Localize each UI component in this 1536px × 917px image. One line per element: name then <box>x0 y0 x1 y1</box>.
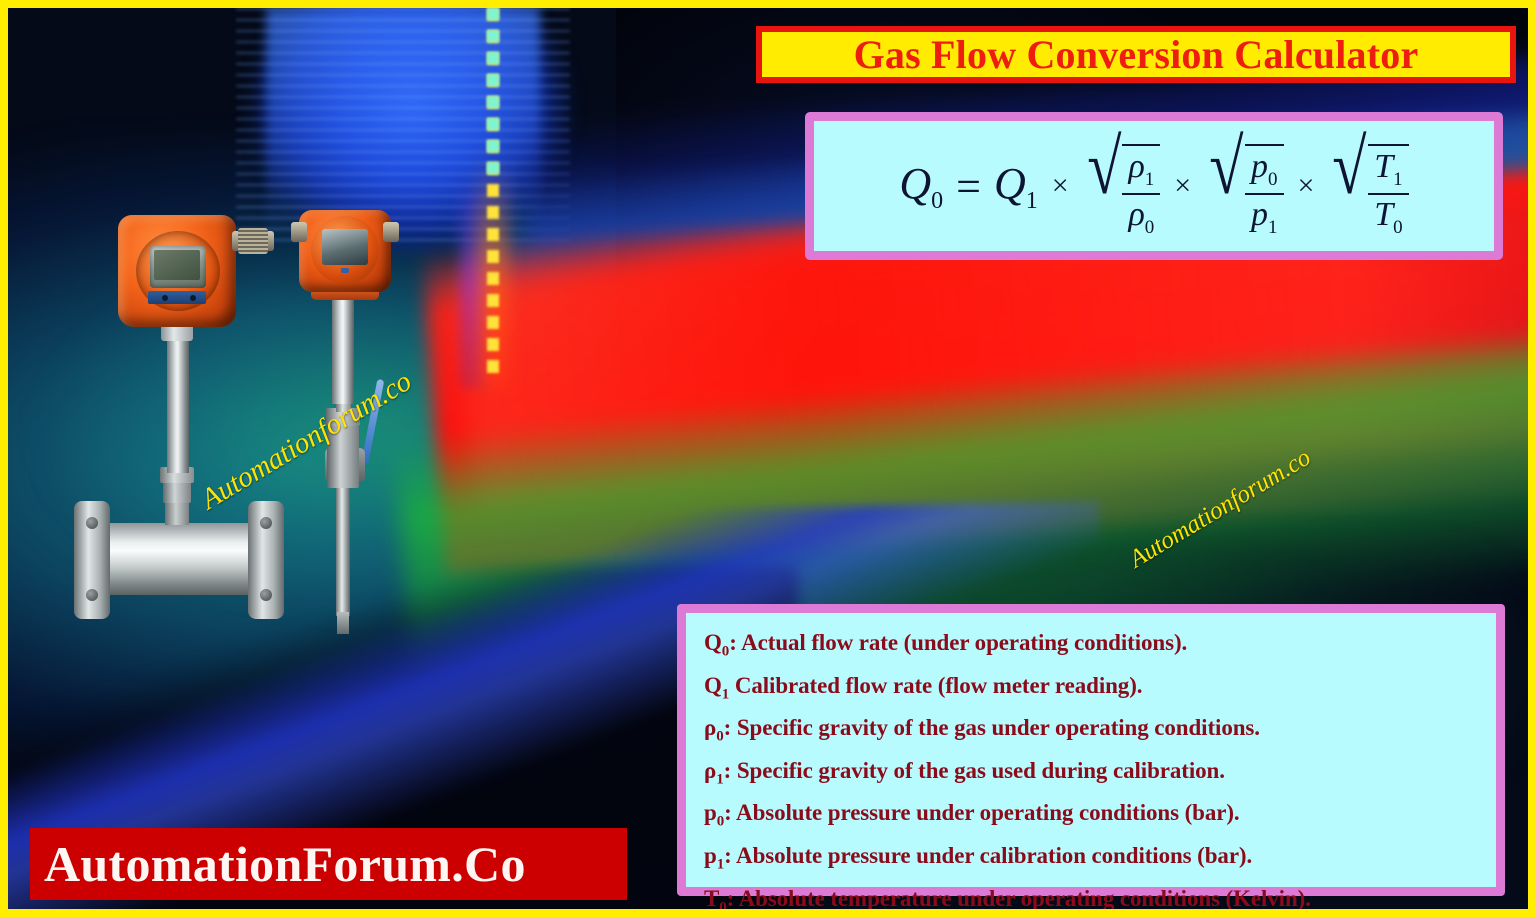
poster-canvas: Automationforum.co Automationforum.co Ga… <box>0 0 1536 917</box>
formula-equals: = <box>956 161 981 212</box>
lcd-display-area <box>154 250 200 280</box>
pressure-ratio: p0 p1 <box>1245 144 1284 238</box>
formula-q1: Q1 <box>994 158 1038 215</box>
site-name: AutomationForum.Co <box>44 835 526 893</box>
density-numerator: ρ1 <box>1122 148 1160 192</box>
cable-gland-right <box>383 222 399 242</box>
title-banner: Gas Flow Conversion Calculator <box>756 26 1516 83</box>
formula-times-3: × <box>1297 169 1316 203</box>
formula-times-1: × <box>1051 169 1070 203</box>
inline-flanged-gas-flow-meter <box>70 213 285 623</box>
density-ratio: ρ1 ρ0 <box>1122 144 1160 238</box>
pipe-spool <box>94 523 262 595</box>
keypad-button <box>162 295 168 301</box>
pipe-flange-left <box>74 501 110 619</box>
probe-stem-upper <box>332 299 354 404</box>
pipe-flange-right <box>248 501 284 619</box>
cable-gland-threads <box>238 228 268 254</box>
density-denominator: ρ0 <box>1122 193 1160 238</box>
legend-item: T0: Absolute temperature under operating… <box>704 882 1480 917</box>
pressure-numerator: p0 <box>1245 148 1284 192</box>
lcd-display <box>322 229 368 265</box>
conversion-formula: Q0 = Q1 × √ ρ1 ρ0 × √ p0 p1 × <box>899 134 1408 238</box>
temperature-numerator: T1 <box>1368 148 1408 192</box>
formula-sqrt-pressure: √ p0 p1 <box>1205 134 1283 238</box>
radical-sign-icon: √ <box>1087 134 1121 238</box>
meter-stem <box>167 338 189 473</box>
thermal-dashed-vertical-pipe-cool <box>487 8 499 178</box>
formula-times-2: × <box>1173 169 1192 203</box>
legend-item: Q1 Calibrated flow rate (flow meter read… <box>704 669 1480 712</box>
meter-base-block <box>165 501 189 525</box>
temperature-denominator: T0 <box>1368 193 1408 238</box>
keypad-strip <box>148 291 206 304</box>
flange-bolt-hole <box>260 517 272 529</box>
legend-item: ρ1: Specific gravity of the gas used dur… <box>704 754 1480 797</box>
legend-item: ρ0: Specific gravity of the gas under op… <box>704 711 1480 754</box>
temperature-ratio: T1 T0 <box>1368 144 1408 238</box>
radical-sign-icon: √ <box>1333 134 1367 238</box>
formula-panel: Q0 = Q1 × √ ρ1 ρ0 × √ p0 p1 × <box>805 112 1503 260</box>
legend-item: p0: Absolute pressure under operating co… <box>704 796 1480 839</box>
pressure-denominator: p1 <box>1245 193 1284 238</box>
symbol-legend-panel: Q0: Actual flow rate (under operating co… <box>677 604 1505 896</box>
meter-lower-nut <box>163 481 191 503</box>
page-title: Gas Flow Conversion Calculator <box>854 31 1419 78</box>
formula-lhs: Q0 <box>899 158 943 215</box>
flange-bolt-hole <box>86 589 98 601</box>
flange-bolt-hole <box>260 589 272 601</box>
insertion-probe <box>336 486 350 616</box>
cable-gland-left <box>291 222 307 242</box>
legend-item: Q0: Actual flow rate (under operating co… <box>704 626 1480 669</box>
flange-bolt-hole <box>86 517 98 529</box>
formula-sqrt-density: √ ρ1 ρ0 <box>1083 134 1161 238</box>
formula-sqrt-temperature: √ T1 T0 <box>1328 134 1408 238</box>
legend-item: p1: Absolute pressure under calibration … <box>704 839 1480 882</box>
status-indicator <box>341 268 349 273</box>
keypad-button <box>190 295 196 301</box>
site-logo-banner: AutomationForum.Co <box>30 828 627 900</box>
radical-sign-icon: √ <box>1209 134 1243 238</box>
probe-tip <box>337 612 349 634</box>
